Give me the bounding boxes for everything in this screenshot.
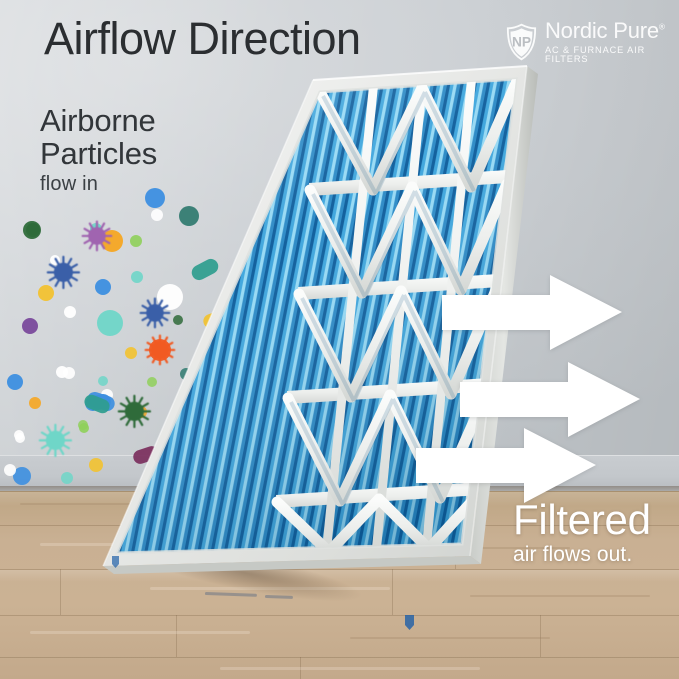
brand-name: Nordic Pure® xyxy=(545,20,679,42)
airflow-arrow-3 xyxy=(416,428,596,503)
brand-name-text: Nordic Pure xyxy=(545,18,659,43)
filtered-air-caption: Filtered air flows out. xyxy=(513,498,651,567)
registered-mark: ® xyxy=(659,23,665,32)
airborne-particles-caption: Airborne Particles flow in xyxy=(40,104,157,196)
page-title: Airflow Direction xyxy=(44,13,361,65)
filter-frame-logo-mark xyxy=(405,615,414,630)
airflow-arrow-2 xyxy=(460,362,640,437)
filter-frame-printed-text xyxy=(205,592,293,599)
svg-text:NP: NP xyxy=(512,35,531,50)
brand-logo-text: Nordic Pure® AC & FURNACE AIR FILTERS xyxy=(545,20,679,64)
airborne-line-2: Particles xyxy=(40,137,157,170)
airflow-arrow-1 xyxy=(442,275,622,350)
shield-icon: NP xyxy=(506,22,537,62)
airborne-line-3: flow in xyxy=(40,173,157,196)
filtered-line-1: Filtered xyxy=(513,498,651,542)
brand-logo: NP Nordic Pure® AC & FURNACE AIR FILTERS xyxy=(506,20,679,64)
airflow-direction-infographic: Airflow Direction Airborne Particles flo… xyxy=(0,0,679,679)
filtered-line-2: air flows out. xyxy=(513,543,651,567)
brand-tagline: AC & FURNACE AIR FILTERS xyxy=(545,46,679,64)
airborne-line-1: Airborne xyxy=(40,104,157,137)
